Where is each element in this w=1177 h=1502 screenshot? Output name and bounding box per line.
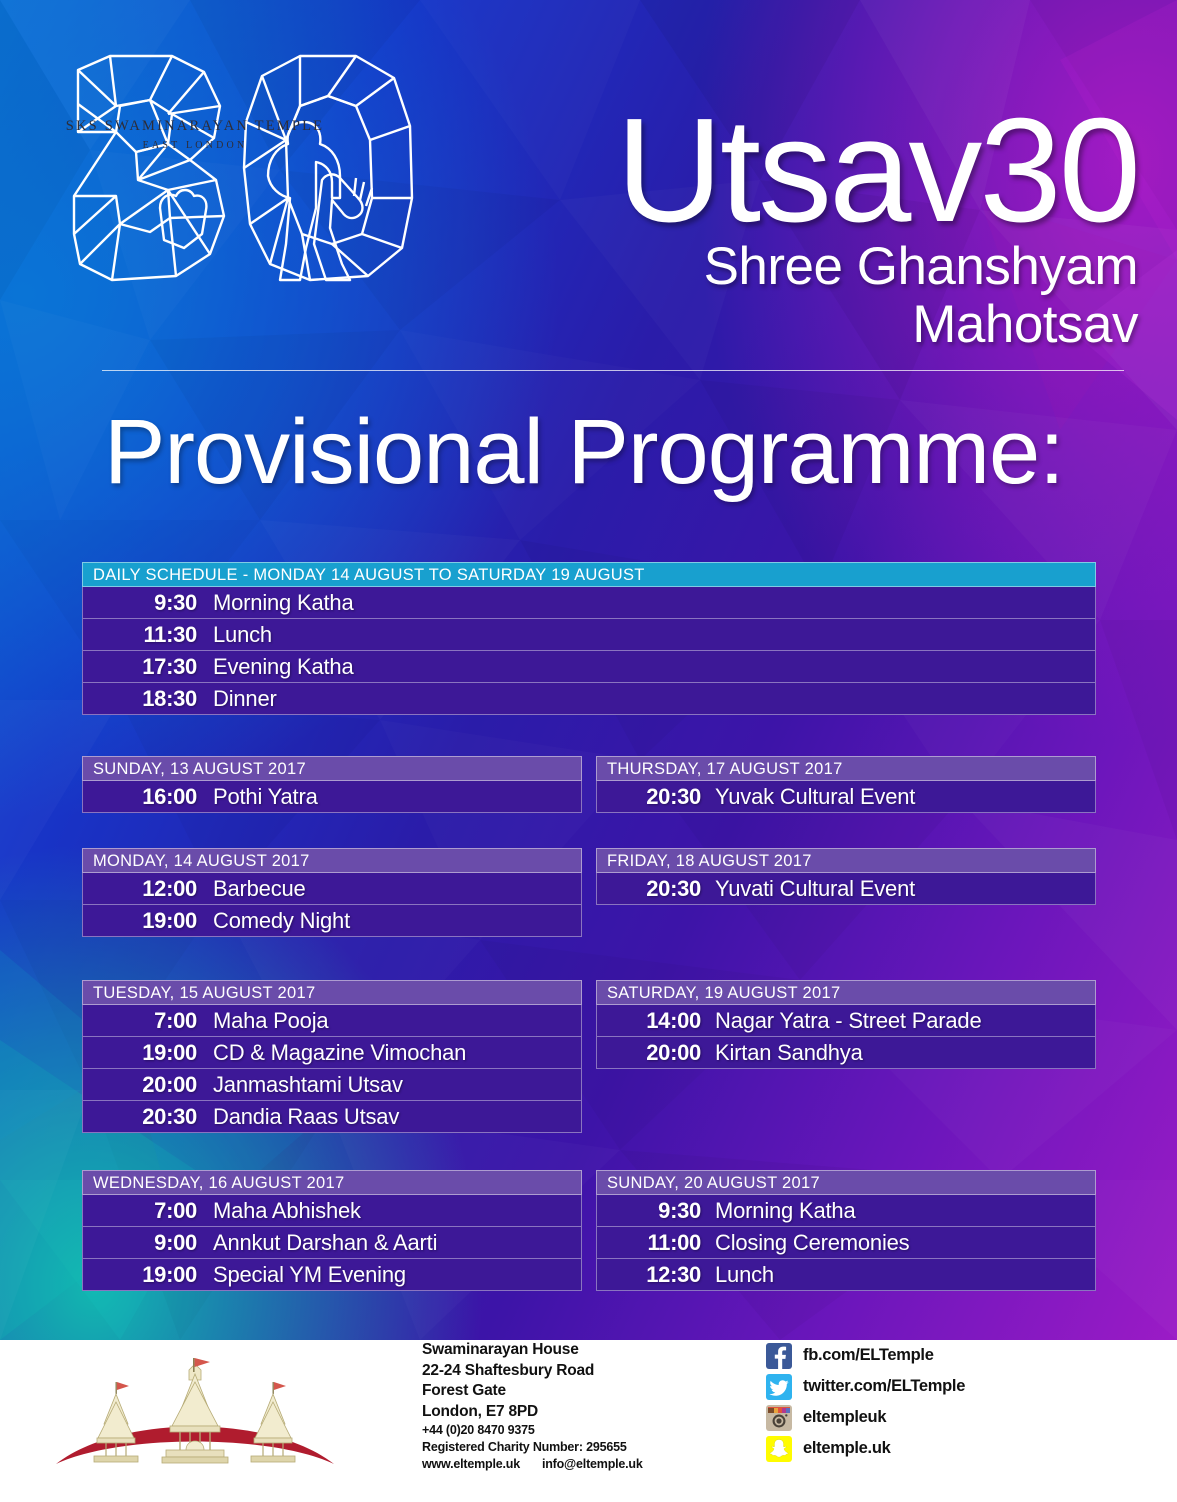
- twitter-label: twitter.com/ELTemple: [803, 1377, 965, 1396]
- row-time: 17:30: [83, 654, 213, 680]
- day-header: THURSDAY, 17 AUGUST 2017: [596, 756, 1096, 781]
- social-link-instagram[interactable]: eltempleuk: [766, 1402, 1096, 1433]
- table-row: 11:30 Lunch: [82, 619, 1096, 651]
- row-event: Morning Katha: [715, 1198, 856, 1224]
- phone-number: +44 (0)20 8470 9375: [422, 1422, 752, 1439]
- website-link[interactable]: www.eltemple.uk: [422, 1456, 520, 1473]
- table-row: 20:00 Kirtan Sandhya: [596, 1037, 1096, 1069]
- table-row: 18:30 Dinner: [82, 683, 1096, 715]
- table-row: 7:00 Maha Abhishek: [82, 1195, 582, 1227]
- row-time: 19:00: [83, 1262, 213, 1288]
- row-event: Yuvati Cultural Event: [715, 876, 915, 902]
- social-link-snapchat[interactable]: eltemple.uk: [766, 1433, 1096, 1464]
- row-event: Lunch: [715, 1262, 774, 1288]
- row-event: Special YM Evening: [213, 1262, 406, 1288]
- row-time: 12:00: [83, 876, 213, 902]
- table-row: 16:00 Pothi Yatra: [82, 781, 582, 813]
- social-link-facebook[interactable]: fb.com/ELTemple: [766, 1340, 1096, 1371]
- table-row: 11:00 Closing Ceremonies: [596, 1227, 1096, 1259]
- day-block-sunday-13: SUNDAY, 13 AUGUST 2017 16:00 Pothi Yatra: [82, 756, 582, 813]
- snapchat-icon: [766, 1436, 792, 1462]
- poster-header: Utsav30 Shree Ghanshyam Mahotsav: [0, 0, 1177, 340]
- snapchat-label: eltemple.uk: [803, 1439, 890, 1458]
- day-header: FRIDAY, 18 AUGUST 2017: [596, 848, 1096, 873]
- twitter-icon: [766, 1374, 792, 1400]
- instagram-icon: [766, 1405, 792, 1431]
- row-time: 19:00: [83, 908, 213, 934]
- temple-location: EAST LONDON: [50, 140, 340, 151]
- temple-name: SKS SWAMINARAYAN TEMPLE: [50, 118, 340, 135]
- day-block-friday-18: FRIDAY, 18 AUGUST 2017 20:30 Yuvati Cult…: [596, 848, 1096, 905]
- row-event: Lunch: [213, 622, 272, 648]
- day-header: SUNDAY, 13 AUGUST 2017: [82, 756, 582, 781]
- row-time: 20:00: [83, 1072, 213, 1098]
- facebook-icon: [766, 1343, 792, 1369]
- main-title: Utsav30: [478, 96, 1138, 246]
- row-time: 9:30: [83, 590, 213, 616]
- day-header: TUESDAY, 15 AUGUST 2017: [82, 980, 582, 1005]
- row-time: 9:00: [83, 1230, 213, 1256]
- table-row: 20:30 Yuvak Cultural Event: [596, 781, 1096, 813]
- table-row: 9:00 Annkut Darshan & Aarti: [82, 1227, 582, 1259]
- row-event: Dinner: [213, 686, 277, 712]
- social-link-twitter[interactable]: twitter.com/ELTemple: [766, 1371, 1096, 1402]
- page-title: Provisional Programme:: [104, 398, 1144, 506]
- day-header: MONDAY, 14 AUGUST 2017: [82, 848, 582, 873]
- address-line-2: 22-24 Shaftesbury Road: [422, 1361, 752, 1382]
- row-time: 20:30: [597, 876, 715, 902]
- address-line-1: Swaminarayan House: [422, 1340, 752, 1361]
- day-block-wednesday-16: WEDNESDAY, 16 AUGUST 2017 7:00 Maha Abhi…: [82, 1170, 582, 1291]
- row-event: Comedy Night: [213, 908, 350, 934]
- table-row: 20:00 Janmashtami Utsav: [82, 1069, 582, 1101]
- row-event: Maha Pooja: [213, 1008, 328, 1034]
- table-row: 9:30 Morning Katha: [82, 587, 1096, 619]
- row-event: Nagar Yatra - Street Parade: [715, 1008, 982, 1034]
- charity-number: Registered Charity Number: 295655: [422, 1439, 752, 1456]
- day-block-saturday-19: SATURDAY, 19 AUGUST 2017 14:00 Nagar Yat…: [596, 980, 1096, 1069]
- table-row: 9:30 Morning Katha: [596, 1195, 1096, 1227]
- table-row: 7:00 Maha Pooja: [82, 1005, 582, 1037]
- address-block: Swaminarayan House 22-24 Shaftesbury Roa…: [422, 1340, 752, 1473]
- table-row: 20:30 Yuvati Cultural Event: [596, 873, 1096, 905]
- facebook-label: fb.com/ELTemple: [803, 1346, 934, 1365]
- row-time: 20:30: [83, 1104, 213, 1130]
- day-header: WEDNESDAY, 16 AUGUST 2017: [82, 1170, 582, 1195]
- row-event: Pothi Yatra: [213, 784, 318, 810]
- row-time: 20:00: [597, 1040, 715, 1066]
- row-event: Evening Katha: [213, 654, 354, 680]
- row-event: Barbecue: [213, 876, 306, 902]
- row-time: 11:30: [83, 622, 213, 648]
- row-event: Janmashtami Utsav: [213, 1072, 403, 1098]
- row-event: Closing Ceremonies: [715, 1230, 910, 1256]
- table-row: 14:00 Nagar Yatra - Street Parade: [596, 1005, 1096, 1037]
- table-row: 19:00 CD & Magazine Vimochan: [82, 1037, 582, 1069]
- daily-schedule-header: DAILY SCHEDULE - MONDAY 14 AUGUST TO SAT…: [82, 562, 1096, 587]
- email-link[interactable]: info@eltemple.uk: [542, 1456, 643, 1473]
- row-time: 7:00: [83, 1198, 213, 1224]
- table-row: 12:00 Barbecue: [82, 873, 582, 905]
- social-links: fb.com/ELTemple twitter.com/ELTemple: [766, 1340, 1096, 1464]
- table-row: 19:00 Comedy Night: [82, 905, 582, 937]
- row-event: Kirtan Sandhya: [715, 1040, 863, 1066]
- header-divider: [102, 370, 1124, 371]
- row-time: 12:30: [597, 1262, 715, 1288]
- utsav30-polygon-logo-icon: [64, 48, 424, 298]
- row-time: 19:00: [83, 1040, 213, 1066]
- day-header: SUNDAY, 20 AUGUST 2017: [596, 1170, 1096, 1195]
- address-line-3: Forest Gate: [422, 1381, 752, 1402]
- row-event: Annkut Darshan & Aarti: [213, 1230, 437, 1256]
- row-time: 14:00: [597, 1008, 715, 1034]
- instagram-label: eltempleuk: [803, 1408, 886, 1427]
- row-event: Maha Abhishek: [213, 1198, 361, 1224]
- row-event: Dandia Raas Utsav: [213, 1104, 399, 1130]
- row-time: 7:00: [83, 1008, 213, 1034]
- sks-temple-logo-icon: [50, 1348, 340, 1498]
- row-event: Yuvak Cultural Event: [715, 784, 915, 810]
- row-time: 20:30: [597, 784, 715, 810]
- title-block: Utsav30 Shree Ghanshyam Mahotsav: [478, 96, 1138, 354]
- daily-schedule-table: DAILY SCHEDULE - MONDAY 14 AUGUST TO SAT…: [82, 562, 1096, 715]
- table-row: 12:30 Lunch: [596, 1259, 1096, 1291]
- address-line-4: London, E7 8PD: [422, 1402, 752, 1423]
- table-row: 20:30 Dandia Raas Utsav: [82, 1101, 582, 1133]
- row-event: CD & Magazine Vimochan: [213, 1040, 466, 1066]
- day-block-monday-14: MONDAY, 14 AUGUST 2017 12:00 Barbecue 19…: [82, 848, 582, 937]
- table-row: 17:30 Evening Katha: [82, 651, 1096, 683]
- row-time: 18:30: [83, 686, 213, 712]
- day-header: SATURDAY, 19 AUGUST 2017: [596, 980, 1096, 1005]
- day-block-thursday-17: THURSDAY, 17 AUGUST 2017 20:30 Yuvak Cul…: [596, 756, 1096, 813]
- row-event: Morning Katha: [213, 590, 354, 616]
- day-block-sunday-20: SUNDAY, 20 AUGUST 2017 9:30 Morning Kath…: [596, 1170, 1096, 1291]
- day-block-tuesday-15: TUESDAY, 15 AUGUST 2017 7:00 Maha Pooja …: [82, 980, 582, 1133]
- poster: Utsav30 Shree Ghanshyam Mahotsav Provisi…: [0, 0, 1177, 1502]
- subtitle: Shree Ghanshyam Mahotsav: [478, 238, 1138, 354]
- table-row: 19:00 Special YM Evening: [82, 1259, 582, 1291]
- row-time: 11:00: [597, 1230, 715, 1256]
- row-time: 16:00: [83, 784, 213, 810]
- row-time: 9:30: [597, 1198, 715, 1224]
